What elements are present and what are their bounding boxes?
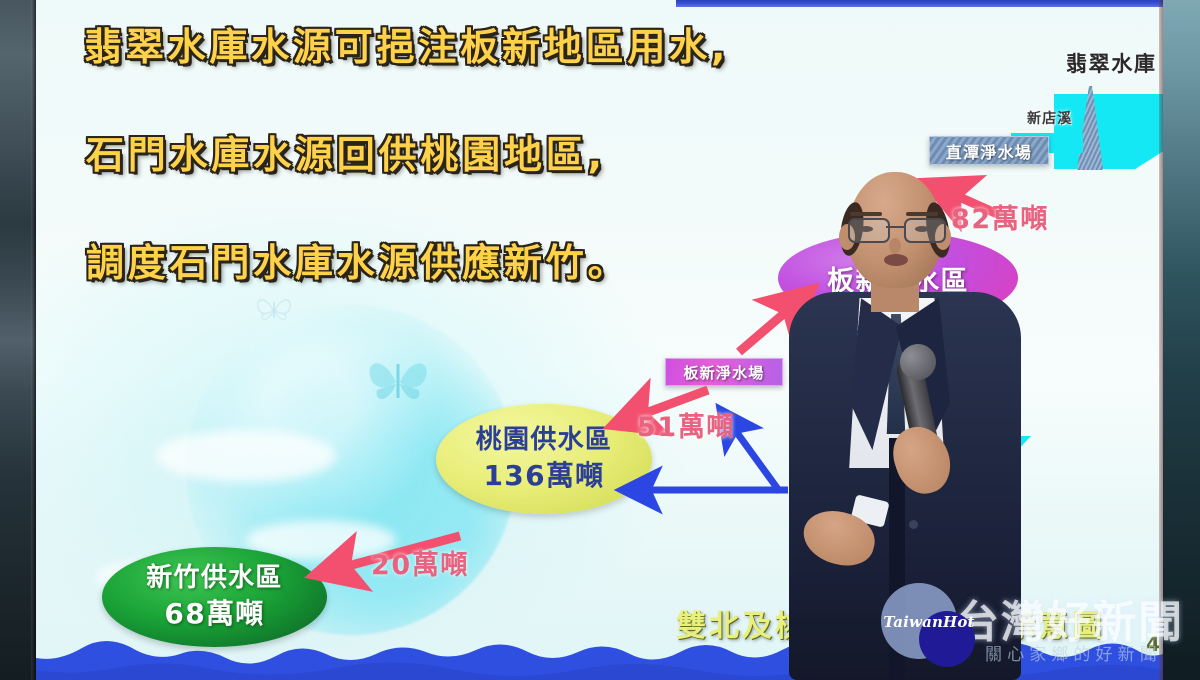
speaker-brow-left bbox=[850, 212, 882, 216]
flow-label-20: 20萬噸 bbox=[371, 543, 469, 582]
glasses-lens-left bbox=[848, 218, 890, 243]
taiwanhot-watermark: TaiwanHot bbox=[881, 583, 977, 679]
glasses-bridge bbox=[886, 226, 904, 228]
speaker-brow-right bbox=[906, 212, 938, 216]
speaker-mouth bbox=[884, 254, 908, 266]
flow-label-51: 51萬噸 bbox=[637, 405, 735, 444]
glasses-lens-right bbox=[904, 218, 946, 243]
speaker-button bbox=[909, 520, 918, 529]
speaker-glasses bbox=[847, 218, 943, 240]
watermark-label: TaiwanHot bbox=[881, 613, 977, 631]
news-subtitle-overlay: 關心家鄉的好新聞 bbox=[985, 640, 1162, 665]
room-wall-right bbox=[1163, 0, 1200, 680]
speaker-nose bbox=[889, 238, 901, 254]
screenshot-root: 翡翠水庫水源可挹注板新地區用水, 石門水庫水源回供桃園地區, 調度石門水庫水源供… bbox=[0, 0, 1200, 680]
room-wall-left bbox=[0, 0, 36, 680]
